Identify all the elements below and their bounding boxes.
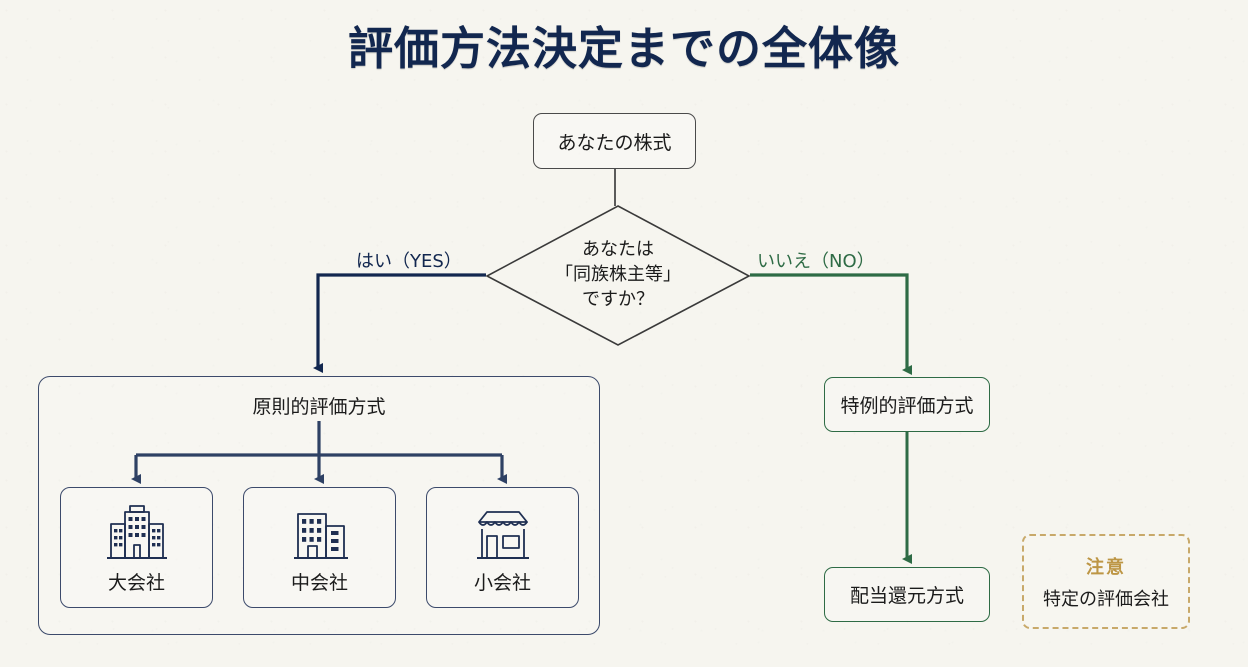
edge-label-no: いいえ（NO） — [757, 247, 875, 273]
decision-text-block: あなたは 「同族株主等」 ですか？ — [486, 205, 750, 346]
decision-line-3: ですか？ — [582, 288, 654, 313]
node-special-valuation-label: 特例的評価方式 — [840, 391, 973, 418]
page-title: 評価方法決定までの全体像 — [0, 12, 1248, 77]
medium-building-icon — [284, 500, 356, 562]
card-large-company[interactable]: 大会社 — [60, 487, 213, 608]
card-small-company-label: 小会社 — [474, 568, 531, 595]
node-your-shares-label: あなたの株式 — [557, 128, 671, 155]
small-shop-icon — [467, 500, 539, 562]
node-dividend-reduction[interactable]: 配当還元方式 — [824, 567, 990, 622]
note-caution-box: 注意 特定の評価会社 — [1022, 534, 1190, 629]
edge-label-yes: はい（YES） — [356, 247, 462, 273]
connector-yes-branch — [318, 275, 486, 368]
node-your-shares[interactable]: あなたの株式 — [533, 113, 696, 169]
group-principal-valuation-label: 原則的評価方式 — [38, 392, 600, 419]
note-caution-title: 注意 — [1086, 553, 1126, 579]
decision-line-1: あなたは — [582, 238, 654, 263]
card-large-company-label: 大会社 — [108, 568, 165, 595]
note-caution-text: 特定の評価会社 — [1043, 585, 1169, 611]
large-building-icon — [101, 500, 173, 562]
card-medium-company[interactable]: 中会社 — [243, 487, 396, 608]
node-decision-family-shareholder[interactable]: あなたは 「同族株主等」 ですか？ — [486, 205, 750, 346]
node-special-valuation[interactable]: 特例的評価方式 — [824, 377, 990, 432]
card-small-company[interactable]: 小会社 — [426, 487, 579, 608]
connector-no-branch — [750, 275, 907, 370]
decision-line-2: 「同族株主等」 — [555, 263, 681, 288]
node-dividend-reduction-label: 配当還元方式 — [850, 581, 964, 608]
card-medium-company-label: 中会社 — [291, 568, 348, 595]
